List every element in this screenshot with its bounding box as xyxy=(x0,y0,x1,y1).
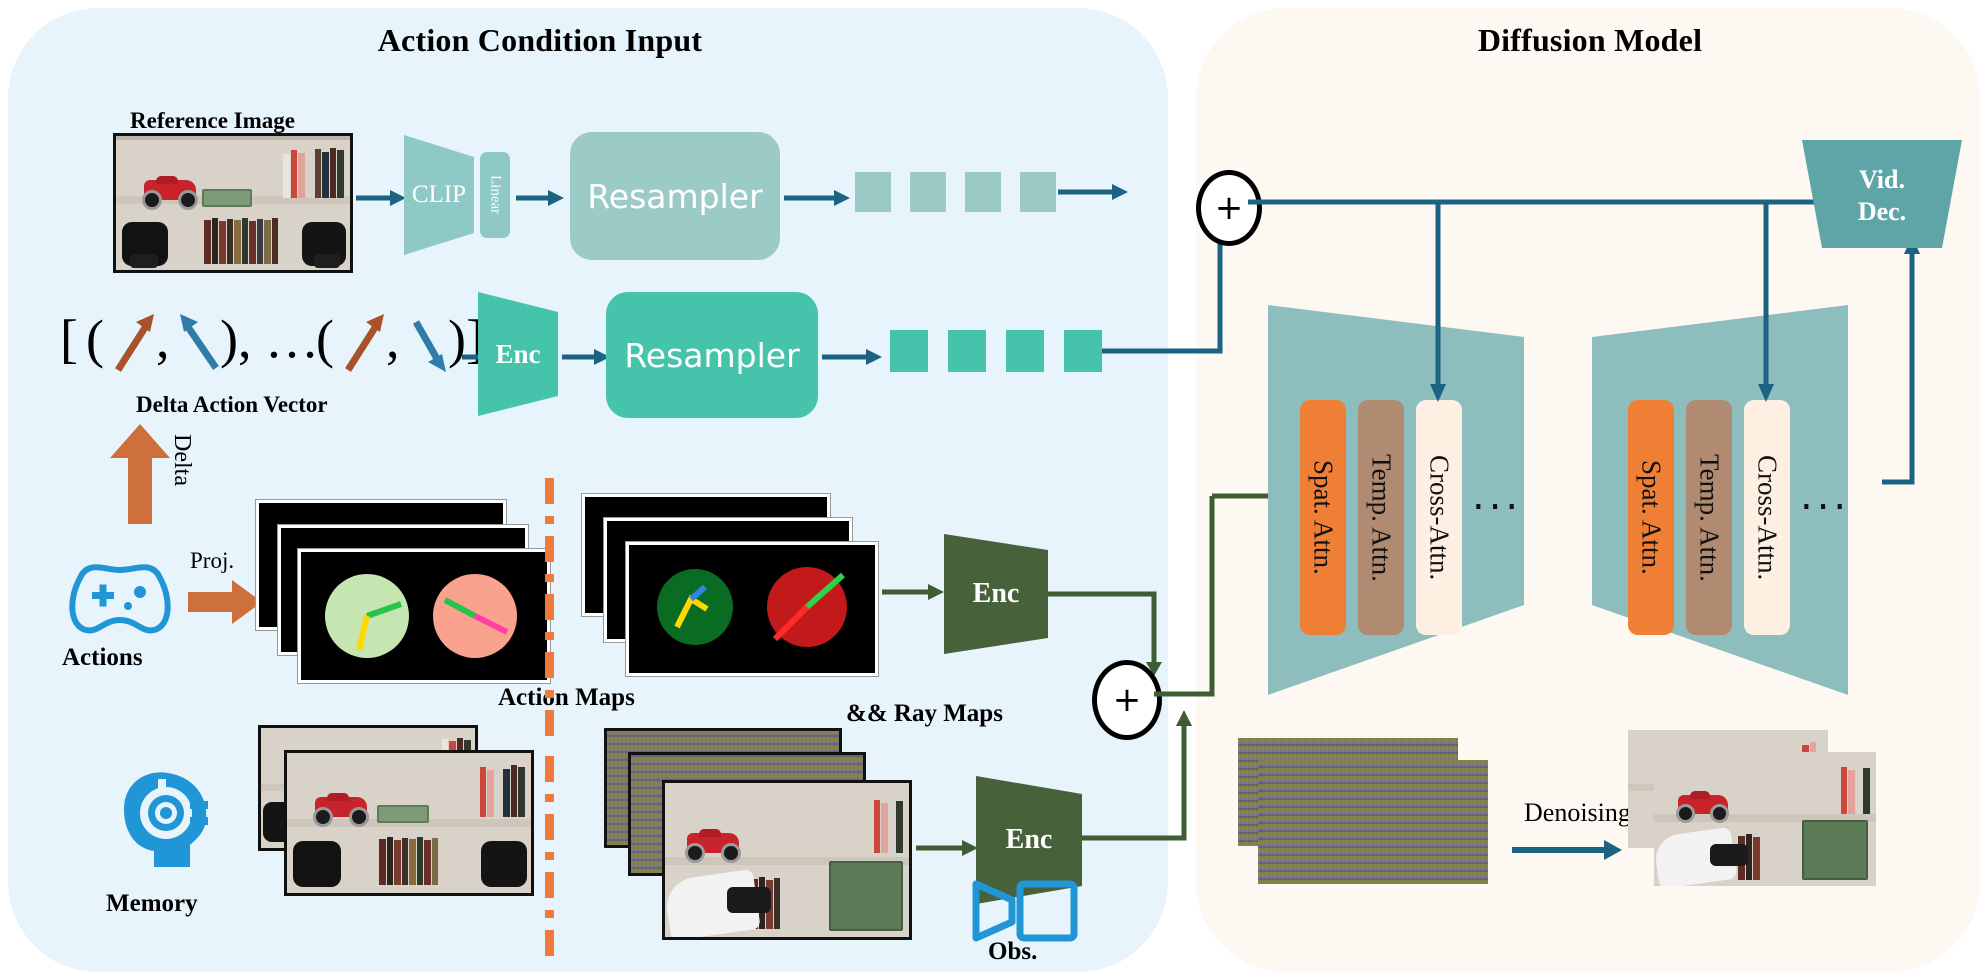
action-maps-label: Action Maps xyxy=(498,684,635,712)
reference-image-photo xyxy=(113,133,353,273)
action-map-front xyxy=(298,549,550,683)
observation-frame-front xyxy=(662,780,912,940)
vector-paren-open-1: ( xyxy=(86,308,104,370)
image-token-3 xyxy=(965,172,1001,212)
ray-maps-label: && Ray Maps xyxy=(846,700,1003,728)
ray-map-front xyxy=(626,542,878,676)
arrow-reference-to-clip xyxy=(356,186,406,210)
delta-action-vector-expression: [ ( , ), … ( , )] xyxy=(60,310,480,382)
denoising-label: Denoising xyxy=(1524,798,1631,828)
raymap-enc-label: Enc xyxy=(944,534,1048,654)
action-token-4 xyxy=(1064,330,1102,372)
unet-up-temp-attn[interactable]: Temp. Attn. xyxy=(1686,400,1732,635)
delta-action-vector-label: Delta Action Vector xyxy=(136,392,328,418)
arrow-obs-to-enc xyxy=(916,836,978,860)
proj-label: Proj. xyxy=(190,548,234,574)
video-decoder-line-2: Dec. xyxy=(1858,196,1906,229)
denoise-output-front xyxy=(1654,752,1876,886)
vector-comma-2: , xyxy=(386,308,400,370)
arrow-unet-to-video-decoder xyxy=(1786,228,1916,488)
separator-dash-lower xyxy=(545,756,554,956)
unet-down-cross-attn[interactable]: Cross-Attn. xyxy=(1416,400,1462,635)
memory-brain-icon xyxy=(98,765,218,885)
conditioning-bus xyxy=(1248,196,1868,416)
action-token-3 xyxy=(1006,330,1044,372)
unet-down-temp-attn[interactable]: Temp. Attn. xyxy=(1358,400,1404,635)
arrow-resampler-to-image-tokens xyxy=(784,186,850,210)
unet-down-spat-attn[interactable]: Spat. Attn. xyxy=(1300,400,1346,635)
unet-down-ellipsis: ... xyxy=(1472,476,1522,516)
clip-label: CLIP xyxy=(404,135,474,255)
vector-paren-open-2: ( xyxy=(316,308,334,370)
vector-bracket-open: [ xyxy=(60,308,78,370)
actions-label: Actions xyxy=(62,644,143,672)
action-token-2 xyxy=(948,330,986,372)
arrow-enc-to-action-resampler xyxy=(562,345,610,369)
arrow-sum-to-unet xyxy=(1150,480,1270,700)
denoising-arrow xyxy=(1512,838,1622,862)
memory-frame-front xyxy=(284,750,534,896)
image-token-2 xyxy=(910,172,946,212)
video-decoder-line-1: Vid. xyxy=(1859,164,1905,197)
linear-label: Linear xyxy=(480,152,510,238)
image-token-4 xyxy=(1020,172,1056,212)
resampler-action-block[interactable]: Resampler xyxy=(606,292,818,418)
unet-up-spat-attn[interactable]: Spat. Attn. xyxy=(1628,400,1674,635)
delta-arrow-down-right-2 xyxy=(406,310,454,376)
reference-image-label: Reference Image xyxy=(130,108,295,134)
separator-dash-upper xyxy=(545,478,554,748)
image-token-1 xyxy=(855,172,891,212)
action-token-1 xyxy=(890,330,928,372)
arrow-raymaps-to-enc xyxy=(882,580,944,604)
vector-mid-text: ), … xyxy=(220,308,319,370)
video-decoder-labels: Vid. Dec. xyxy=(1802,146,1962,246)
page-title-diffusion-model: Diffusion Model xyxy=(1380,22,1800,59)
arrow-linear-to-resampler xyxy=(516,186,564,210)
proj-arrow xyxy=(188,578,262,626)
denoise-input-front xyxy=(1258,760,1488,884)
delta-arrow-up-right-2 xyxy=(342,310,390,376)
resampler-image-block[interactable]: Resampler xyxy=(570,132,780,260)
delta-arrow-up-right-1 xyxy=(112,310,160,376)
page-title-action-condition-input: Action Condition Input xyxy=(330,22,750,59)
delta-up-arrow xyxy=(108,424,172,524)
action-enc-label: Enc xyxy=(478,292,558,416)
memory-label: Memory xyxy=(106,890,198,918)
unet-up-cross-attn[interactable]: Cross-Attn. xyxy=(1744,400,1790,635)
delta-arrow-down-right-1 xyxy=(176,310,226,376)
camera-icon xyxy=(968,876,1078,946)
arrow-resampler-to-action-tokens xyxy=(822,345,882,369)
delta-arrow-label: Delta xyxy=(168,434,195,486)
gamepad-icon xyxy=(58,552,182,642)
vector-comma-1: , xyxy=(156,308,170,370)
obs-label: Obs. xyxy=(988,938,1037,966)
